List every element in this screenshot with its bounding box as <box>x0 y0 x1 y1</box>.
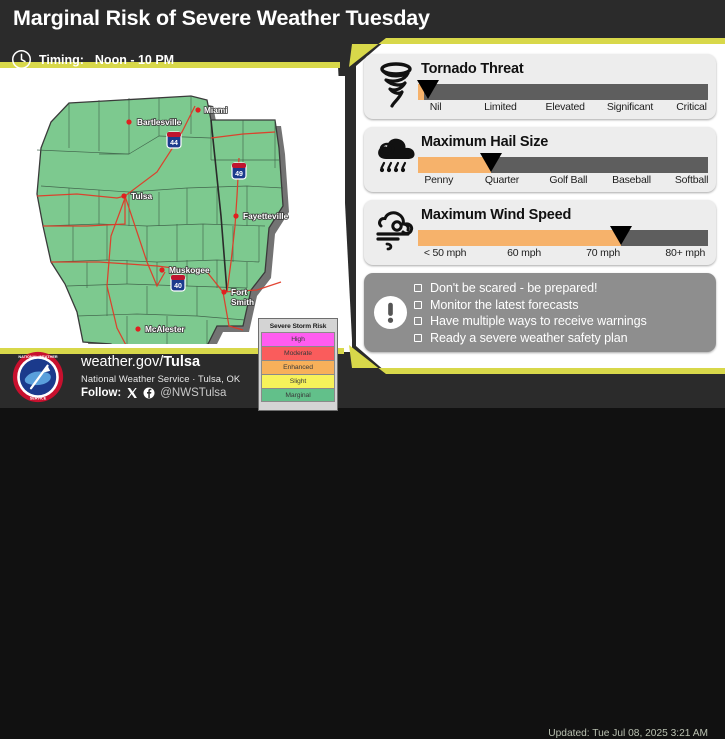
wind-bar[interactable] <box>418 230 708 246</box>
hail-scale-3: Baseball <box>612 174 651 186</box>
social-handle: @NWSTulsa <box>160 387 226 399</box>
site-url[interactable]: weather.gov/Tulsa <box>81 354 200 370</box>
page-title: Marginal Risk of Severe Weather Tuesday <box>13 6 430 31</box>
checkbox-icon <box>414 317 422 325</box>
wind-title: Maximum Wind Speed <box>421 207 571 223</box>
footer: NATIONAL WEATHER SERVICE weather.gov/Tul… <box>0 344 725 408</box>
tornado-scale-2: Elevated <box>546 101 585 113</box>
safety-text: Ready a severe weather safety plan <box>430 331 628 345</box>
x-twitter-icon[interactable] <box>126 387 138 399</box>
wind-scale-3: 80+ mph <box>665 247 705 259</box>
clock-icon <box>11 49 32 70</box>
safety-tips-panel: Don't be scared - be prepared! Monitor t… <box>364 273 716 352</box>
site-prefix: weather.gov/ <box>81 354 163 370</box>
updated-timestamp: Updated: Tue Jul 08, 2025 3:21 AM <box>548 728 708 739</box>
tornado-scale-0: Nil <box>430 101 442 113</box>
site-office: Tulsa <box>163 354 200 370</box>
hail-bar[interactable] <box>418 157 708 173</box>
timing-label: Timing: <box>39 53 84 67</box>
svg-text:Fayetteville: Fayetteville <box>243 211 289 221</box>
svg-text:Miami: Miami <box>204 105 228 115</box>
wind-scale-1: 60 mph <box>507 247 541 259</box>
tornado-bar-track <box>418 84 708 100</box>
wind-scale-2: 70 mph <box>586 247 620 259</box>
hail-scale-4: Softball <box>675 174 708 186</box>
risk-map[interactable]: 44 49 40 Bartlesville Miami <box>7 76 345 344</box>
follow-label: Follow: <box>81 387 121 399</box>
wind-scale-labels: < 50 mph 60 mph 70 mph 80+ mph <box>404 247 720 261</box>
wind-threat-panel[interactable]: Maximum Wind Speed < 50 mph 60 mph 70 mp… <box>364 200 716 265</box>
hail-threat-panel[interactable]: Maximum Hail Size Penny Quarter Golf Bal… <box>364 127 716 192</box>
tornado-scale-3: Significant <box>607 101 653 113</box>
svg-text:49: 49 <box>235 171 243 178</box>
timing-row: Timing: Noon - 10 PM <box>11 49 174 70</box>
nws-logo: NATIONAL WEATHER SERVICE <box>12 351 64 403</box>
svg-text:McAlester: McAlester <box>145 324 185 334</box>
wind-scale-0: < 50 mph <box>424 247 466 259</box>
checkbox-icon <box>414 334 422 342</box>
svg-text:44: 44 <box>170 140 178 147</box>
weather-graphic: Marginal Risk of Severe Weather Tuesday … <box>0 0 725 408</box>
tornado-scale-4: Critical <box>676 101 707 113</box>
safety-list: Don't be scared - be prepared! Monitor t… <box>414 280 710 346</box>
list-item: Have multiple ways to receive warnings <box>414 313 710 330</box>
hail-scale-labels: Penny Quarter Golf Ball Baseball Softbal… <box>404 174 720 188</box>
svg-text:Smith: Smith <box>231 297 254 307</box>
svg-text:Tulsa: Tulsa <box>131 191 152 201</box>
tornado-scale-labels: Nil Limited Elevated Significant Critica… <box>404 101 720 115</box>
svg-text:NATIONAL WEATHER: NATIONAL WEATHER <box>18 355 57 359</box>
list-item: Monitor the latest forecasts <box>414 297 710 314</box>
checkbox-icon <box>414 301 422 309</box>
office-line: National Weather Service · Tulsa, OK <box>81 373 240 384</box>
tornado-bar[interactable] <box>418 84 708 100</box>
hail-scale-0: Penny <box>424 174 453 186</box>
list-item: Don't be scared - be prepared! <box>414 280 710 297</box>
svg-text:Muskogee: Muskogee <box>169 265 210 275</box>
tornado-scale-1: Limited <box>484 101 516 113</box>
svg-text:40: 40 <box>174 283 182 290</box>
safety-text: Have multiple ways to receive warnings <box>430 314 647 328</box>
tornado-threat-panel[interactable]: Tornado Threat Nil Limited Elevated Sign… <box>364 54 716 119</box>
legend-title: Severe Storm Risk <box>261 321 335 332</box>
svg-text:SERVICE: SERVICE <box>30 397 47 401</box>
checkbox-icon <box>414 284 422 292</box>
hail-scale-1: Quarter <box>485 174 519 186</box>
safety-text: Don't be scared - be prepared! <box>430 281 597 295</box>
hail-title: Maximum Hail Size <box>421 134 548 150</box>
facebook-icon[interactable] <box>143 387 155 399</box>
timing-value: Noon - 10 PM <box>95 53 174 67</box>
tornado-title: Tornado Threat <box>421 61 523 77</box>
safety-text: Monitor the latest forecasts <box>430 298 578 312</box>
map-graphic: 44 49 40 Bartlesville Miami <box>7 76 345 344</box>
threat-panels: Tornado Threat Nil Limited Elevated Sign… <box>364 54 716 352</box>
follow-row: Follow: @NWSTulsa <box>81 387 226 399</box>
svg-text:Bartlesville: Bartlesville <box>137 117 182 127</box>
hail-bar-marker <box>480 153 502 172</box>
wind-bar-marker <box>610 226 632 245</box>
svg-text:Fort: Fort <box>231 287 247 297</box>
hail-scale-2: Golf Ball <box>549 174 587 186</box>
exclamation-icon <box>373 295 408 330</box>
wind-bar-fill <box>418 230 621 246</box>
tornado-bar-marker <box>417 80 439 99</box>
